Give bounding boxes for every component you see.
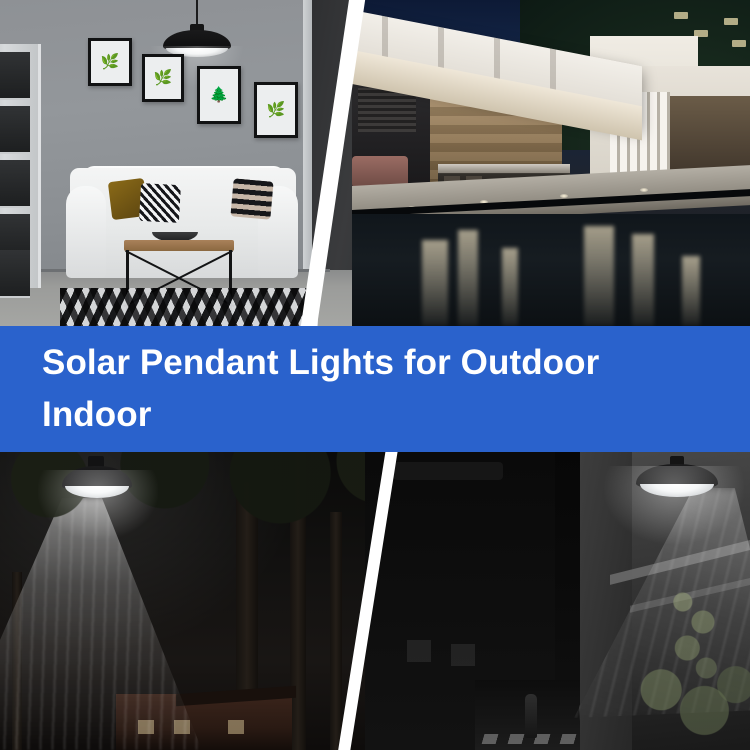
headline-banner: Solar Pendant Lights for Outdoor Indoor bbox=[0, 326, 750, 452]
leaf-icon: 🌿 bbox=[154, 71, 173, 86]
distant-house-light bbox=[732, 40, 746, 47]
pillow-diamond bbox=[139, 183, 181, 223]
light-reflection bbox=[632, 234, 654, 326]
headline-line-1: Solar Pendant Lights for Outdoor bbox=[42, 337, 750, 389]
pedestrian bbox=[525, 694, 537, 738]
deck-uplight bbox=[640, 188, 648, 192]
bottom-photo-row bbox=[0, 452, 750, 750]
pillow-striped bbox=[230, 178, 273, 219]
light-reflection bbox=[502, 248, 518, 326]
leaf-icon: 🌿 bbox=[101, 55, 120, 70]
product-poster: 🌿 🌿 🌲 🌿 bbox=[0, 0, 750, 750]
shrub bbox=[630, 664, 750, 750]
pendant-halo bbox=[604, 466, 744, 544]
light-reflection bbox=[458, 230, 478, 326]
swimming-pool bbox=[352, 214, 750, 326]
framed-print: 🌲 bbox=[197, 66, 241, 124]
framed-print: 🌿 bbox=[88, 38, 132, 86]
framed-print: 🌿 bbox=[254, 82, 298, 138]
sofa-arm-left bbox=[66, 186, 106, 278]
leaf-icon: 🌿 bbox=[267, 103, 286, 118]
framed-print: 🌿 bbox=[142, 54, 184, 102]
light-reflection bbox=[422, 240, 448, 326]
lit-window bbox=[228, 720, 244, 734]
panel-outdoor-street-night bbox=[365, 452, 750, 750]
shelf-cube bbox=[0, 106, 30, 154]
deck-uplight bbox=[560, 194, 568, 198]
panel-outdoor-pool-villa bbox=[352, 0, 750, 326]
distant-house-light bbox=[674, 12, 688, 19]
tree-icon: 🌲 bbox=[210, 88, 229, 103]
headline-line-2: Indoor bbox=[42, 389, 750, 441]
top-photo-row: 🌿 🌿 🌲 🌿 bbox=[0, 0, 750, 326]
awning bbox=[393, 462, 503, 480]
shelf-cube bbox=[0, 250, 30, 298]
window bbox=[451, 644, 475, 666]
light-reflection bbox=[584, 226, 614, 326]
shelving-unit bbox=[0, 44, 41, 288]
pendant-halo bbox=[38, 470, 158, 540]
distant-house-light bbox=[724, 18, 738, 25]
window bbox=[407, 640, 431, 662]
shelf-cube bbox=[0, 160, 30, 208]
shelf-cube bbox=[0, 52, 30, 100]
light-reflection bbox=[682, 256, 700, 326]
geometric-rug bbox=[60, 288, 318, 326]
